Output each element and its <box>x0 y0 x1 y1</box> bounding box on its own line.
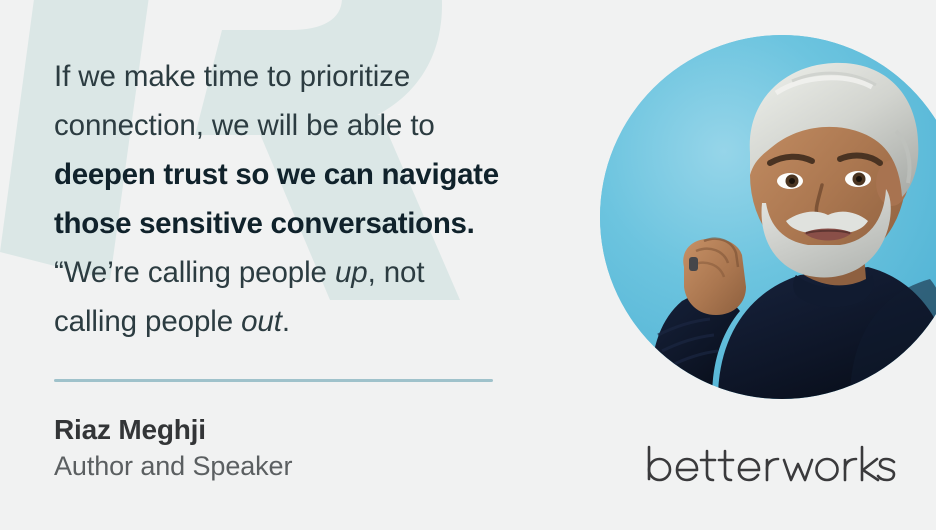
portrait <box>600 35 936 399</box>
quote-card: If we make time to prioritize connection… <box>0 0 936 530</box>
betterworks-logo <box>645 443 897 487</box>
speaker-name: Riaz Meghji <box>54 412 292 448</box>
quote-line-5-middle: , not <box>368 256 425 289</box>
divider <box>54 379 493 382</box>
quote-line-3: deepen trust so we can navigate <box>54 150 584 199</box>
quote-line-2: connection, we will be able to <box>54 101 584 150</box>
quote-text: If we make time to prioritize connection… <box>54 52 584 346</box>
portrait-image <box>600 35 936 399</box>
quote-line-6: calling people out. <box>54 297 584 346</box>
quote-emphasis-out: out <box>241 305 282 338</box>
quote-line-4: those sensitive conversations. <box>54 199 584 248</box>
attribution: Riaz Meghji Author and Speaker <box>54 412 292 484</box>
quote-line-5: “We’re calling people up, not <box>54 248 584 297</box>
quote-line-6-suffix: . <box>282 305 290 338</box>
quote-line-1: If we make time to prioritize <box>54 52 584 101</box>
quote-line-5-prefix: “We’re calling people <box>54 256 335 289</box>
speaker-role: Author and Speaker <box>54 448 292 484</box>
quote-emphasis-up: up <box>335 256 368 289</box>
quote-line-6-prefix: calling people <box>54 305 241 338</box>
